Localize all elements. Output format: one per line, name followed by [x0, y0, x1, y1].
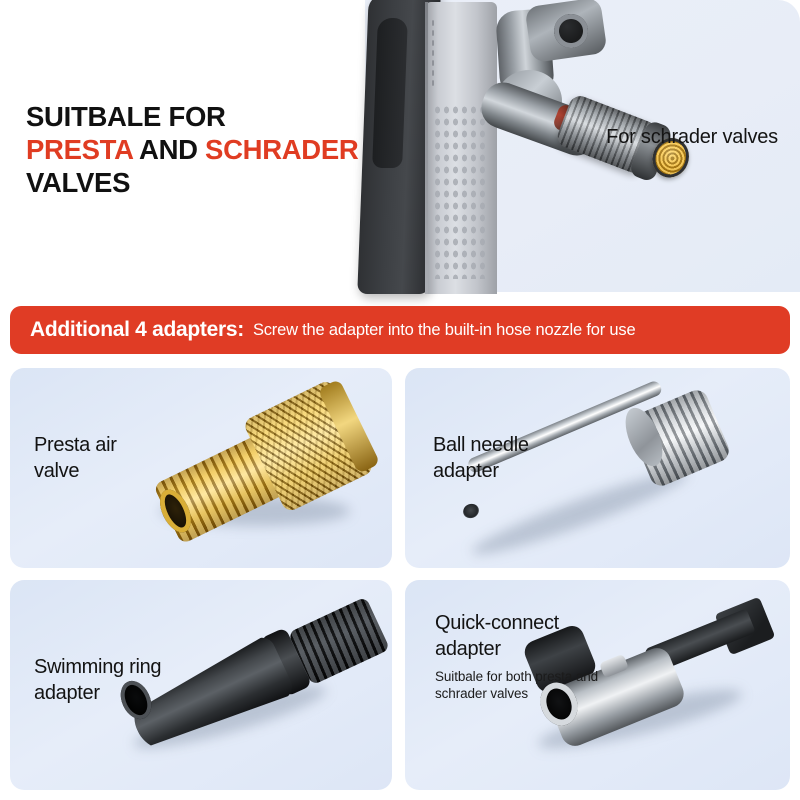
headline-line-1: SUITBALE FOR: [26, 101, 226, 132]
card-label-quick-connect-adapter: Quick-connect adapter: [435, 610, 615, 662]
hero-section: SUITBALE FOR PRESTA AND SCHRADER VALVES …: [0, 0, 800, 292]
tire-inflator-illustration: [355, 0, 535, 294]
inflator-grip-panel: [372, 18, 408, 168]
adapter-card-quick-connect-adapter[interactable]: Quick-connect adapter Suitbale for both …: [405, 580, 790, 790]
headline-presta: PRESTA: [26, 134, 133, 165]
inflator-dot-row: [431, 18, 435, 88]
adapters-banner: Additional 4 adapters: Screw the adapter…: [10, 306, 790, 354]
nozzle-assembly: [450, 4, 690, 234]
headline-schrader: SCHRADER: [205, 134, 358, 165]
banner-title: Additional 4 adapters:: [30, 318, 244, 342]
needle-tip-opening: [461, 501, 481, 520]
inflator-seam: [425, 2, 428, 294]
adapter-card-grid: Presta air valve Ball needle adapter Swi…: [10, 368, 790, 790]
adapter-card-ball-needle-adapter[interactable]: Ball needle adapter: [405, 368, 790, 568]
headline-and: AND: [133, 134, 205, 165]
card-label-ball-needle-adapter: Ball needle adapter: [433, 432, 593, 484]
adapter-card-swimming-ring-adapter[interactable]: Swimming ring adapter: [10, 580, 392, 790]
infographic-page: SUITBALE FOR PRESTA AND SCHRADER VALVES …: [0, 0, 800, 800]
hero-headline: SUITBALE FOR PRESTA AND SCHRADER VALVES: [26, 100, 366, 199]
presta-valve-illustration: [138, 368, 392, 568]
card-label-swimming-ring-adapter: Swimming ring adapter: [34, 654, 209, 706]
card-sub-quick-connect-adapter: Suitbale for both presta and schrader va…: [435, 668, 615, 702]
banner-description: Screw the adapter into the built-in hose…: [253, 321, 635, 340]
adapter-card-presta-air-valve[interactable]: Presta air valve: [10, 368, 392, 568]
card-label-presta-air-valve: Presta air valve: [34, 432, 164, 484]
headline-line-3: VALVES: [26, 167, 130, 198]
hero-caption: For schrader valves: [600, 124, 778, 151]
